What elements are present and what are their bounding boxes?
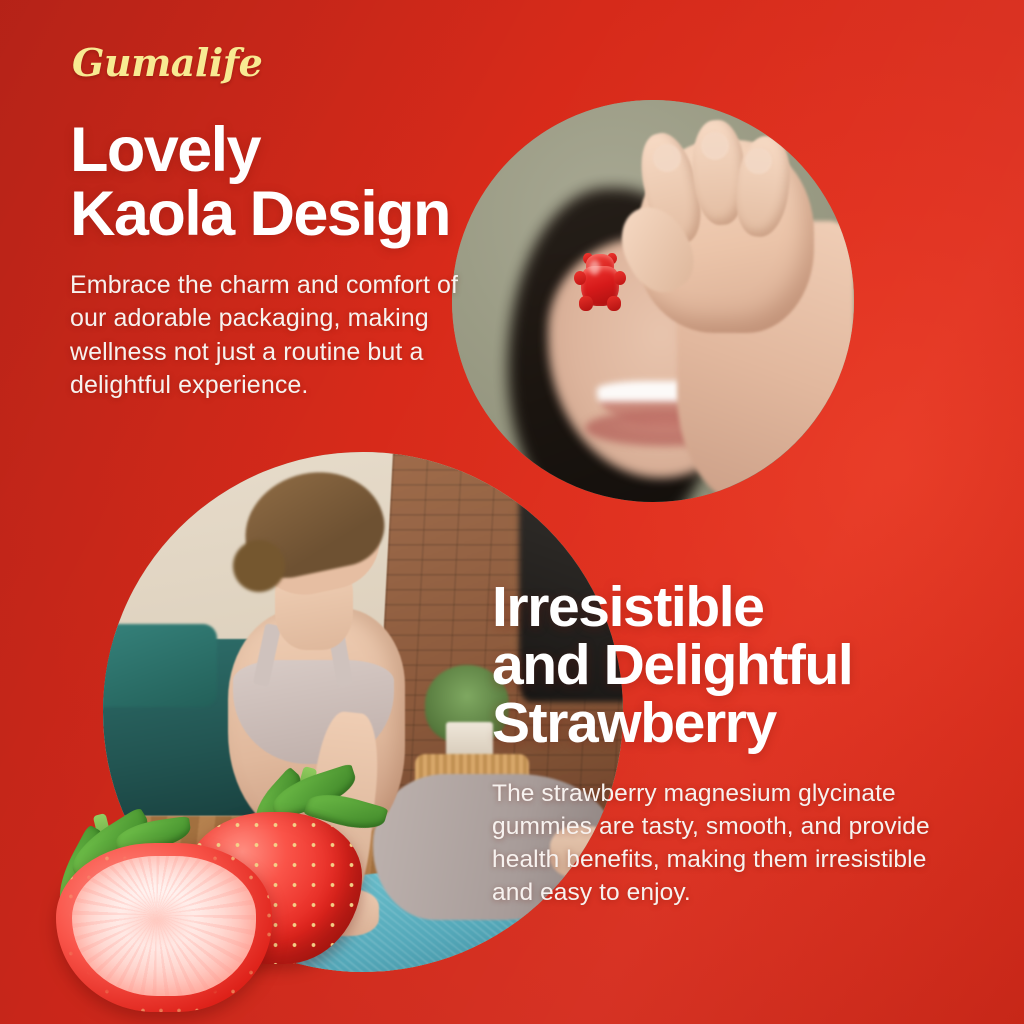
- gummy-bear-icon: [575, 253, 625, 311]
- koala-headline: Lovely Kaola Design: [70, 118, 500, 247]
- koala-headline-line-2: Kaola Design: [70, 179, 450, 249]
- koala-body-text: Embrace the charm and comfort of our ado…: [70, 269, 500, 403]
- fingernail-3: [745, 148, 771, 174]
- strawberry-headline: Irresistible and Delightful Strawberry: [492, 578, 962, 752]
- woman-holding-gummy-bear-photo: [452, 100, 854, 502]
- brand-logo: Gumalife: [72, 40, 262, 85]
- gummy-bear-arm-left: [574, 271, 586, 285]
- strawberry-headline-line-1: Irresistible: [492, 575, 764, 639]
- strawberry-seeds: [56, 843, 271, 1012]
- hair-bun: [233, 540, 285, 592]
- gummy-bear-leg-left: [579, 296, 593, 311]
- strawberry-decoration: [52, 770, 392, 1024]
- gummy-bear-leg-right: [607, 296, 621, 311]
- strawberry-headline-line-2: and Delightful: [492, 633, 852, 697]
- strawberry-headline-line-3: Strawberry: [492, 691, 776, 755]
- gummy-photo-scene: [452, 100, 854, 502]
- gummy-bear-arm-right: [614, 271, 626, 285]
- halved-strawberry-icon: [52, 832, 276, 1016]
- sofa-cushion: [103, 624, 217, 707]
- strawberry-section: Irresistible and Delightful Strawberry T…: [492, 578, 962, 910]
- strawberry-body-text: The strawberry magnesium glycinate gummi…: [492, 778, 962, 909]
- koala-headline-line-1: Lovely: [70, 115, 260, 185]
- product-feature-poster: Gumalife: [0, 0, 1024, 1024]
- koala-design-section: Lovely Kaola Design Embrace the charm an…: [70, 118, 500, 403]
- gummy-bear-highlight: [589, 260, 600, 275]
